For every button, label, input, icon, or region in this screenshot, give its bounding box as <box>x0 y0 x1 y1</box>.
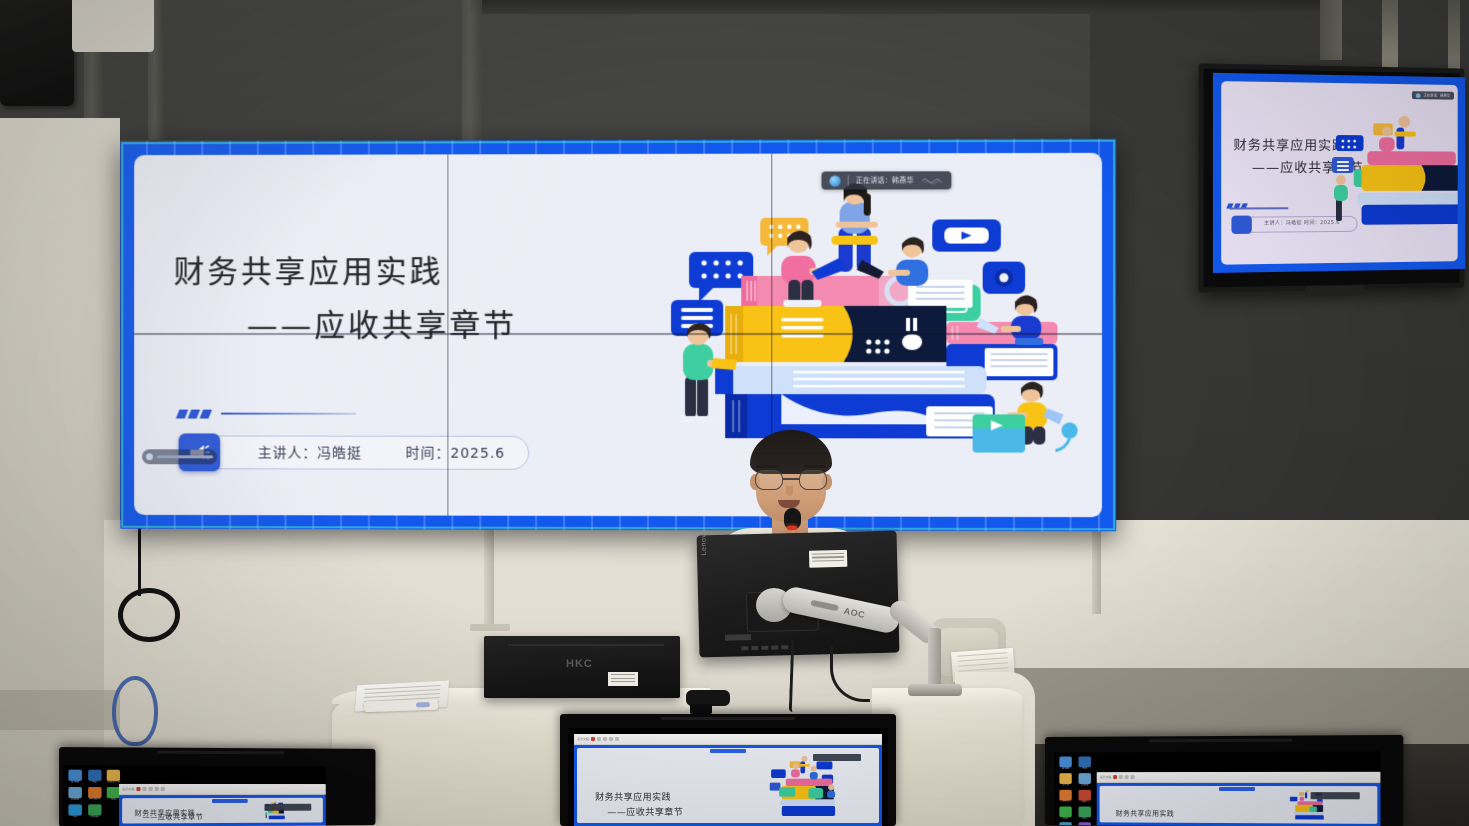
coiled-cable <box>118 588 180 642</box>
ie-browser-icon[interactable] <box>88 770 101 781</box>
wall-baseboard <box>0 690 120 730</box>
mirrored-slide: 财务共享应用实践 ——应收共享章节 <box>122 798 323 824</box>
desktop-icon-label: QQ <box>67 815 83 818</box>
play-icon[interactable] <box>1131 775 1135 779</box>
book-stack <box>715 276 1057 439</box>
monitor-screen[interactable]: 演示文稿 财务共享应用实践 ——应收共享章节 <box>568 728 888 826</box>
undo-icon[interactable] <box>143 787 147 791</box>
slide-title-line-1: 财务共享应用实践 <box>174 246 517 291</box>
print-icon[interactable] <box>155 787 159 791</box>
hanging-cable <box>138 524 141 596</box>
monitor-screen[interactable]: 财务共享实践 正在讲话：韩燕华 财务共享应用实践 ——应收共享章节 主讲人：冯皓… <box>1213 73 1465 273</box>
desktop-icon[interactable]: 文件夹 <box>1058 773 1072 787</box>
slide-meta-label: 主讲人：冯皓挺 时间：2025.6 <box>1264 219 1340 227</box>
desktop-icon[interactable]: 浏览器 <box>87 804 102 818</box>
monitor-screen[interactable]: 此电脑网络新建文件夹回收站WPS办公微信QQ浏览器 演示文稿 财务共享应用实践 … <box>63 766 326 826</box>
lenovo-brand-label: Lenovo <box>700 529 708 555</box>
desktop-icon-label: 文件夹 <box>1058 784 1072 787</box>
green-square-icon <box>1340 81 1345 82</box>
slide-meta-pill: 主讲人：冯皓挺 时间：2025.6 <box>195 435 529 469</box>
active-speaker-toolbar: 正在讲话：韩燕华 <box>1412 91 1454 99</box>
audio-wave-icon <box>921 176 943 185</box>
save-icon[interactable] <box>136 787 140 791</box>
ribbon-label: 演示文稿 <box>577 737 589 741</box>
computer-icon[interactable] <box>68 770 82 781</box>
desktop-icon-label: 浏览器 <box>87 815 102 818</box>
window-title-chip <box>710 749 746 753</box>
megaphone-icon <box>1231 216 1251 234</box>
redo-icon[interactable] <box>603 737 607 741</box>
display-mount-foot <box>470 624 510 631</box>
presenter-icon <box>1416 93 1421 98</box>
ceiling-rail <box>470 0 1320 14</box>
operator-monitor-right[interactable]: 此电脑网络文件夹回收站WPS笔记微信音乐图片工具OperaPDF 演示文稿 财务… <box>1045 735 1403 826</box>
undo-icon[interactable] <box>1119 775 1123 779</box>
person-sitting-laptop-yellow <box>973 382 1078 453</box>
ie-browser-icon[interactable] <box>1078 756 1090 767</box>
desktop-icon[interactable]: 笔记 <box>1078 790 1092 804</box>
active-speaker-toolbar[interactable]: 正在讲话：韩燕华 <box>822 171 951 189</box>
notes-icon[interactable] <box>1078 790 1090 801</box>
operator-monitor-left[interactable]: 此电脑网络新建文件夹回收站WPS办公微信QQ浏览器 演示文稿 财务共享应用实践 … <box>59 747 375 826</box>
desktop-icon-grid[interactable]: 此电脑网络文件夹回收站WPS笔记微信音乐图片工具OperaPDF <box>1058 756 1094 826</box>
play-icon[interactable] <box>615 737 619 741</box>
play-icon[interactable] <box>161 787 165 791</box>
hkc-monitor-rear[interactable]: HKC <box>484 636 680 698</box>
camera-tile-blue <box>983 262 1025 294</box>
window-title-label: 财务共享实践 <box>1347 81 1368 82</box>
qq-icon[interactable] <box>68 804 82 815</box>
desktop-icon-label: 回收站 <box>1078 784 1092 787</box>
recycle-bin-icon[interactable] <box>68 787 82 798</box>
window-title-chip <box>212 799 248 803</box>
conference-room-scene: 财务共享实践 正在讲话：韩燕华 财务共享应用实践 ——应收共享章节 <box>0 0 1469 826</box>
elearning-illustration <box>740 756 873 816</box>
vent-line <box>508 644 664 646</box>
powerpoint-window[interactable]: 演示文稿 财务共享应用实践 <box>1097 772 1381 826</box>
desktop-icon-label: 回收站 <box>67 798 83 801</box>
mirrored-slide: 财务共享应用实践 <box>1100 786 1378 824</box>
wps-icon[interactable] <box>88 787 101 798</box>
desktop-icon[interactable]: 网络 <box>87 770 102 784</box>
bezel-notch <box>157 751 284 755</box>
mirrored-slide: 财务共享应用实践 ——应收共享章节 <box>577 748 879 823</box>
monitor-arm-base <box>908 684 962 696</box>
music-icon[interactable] <box>1078 806 1090 817</box>
desktop-icon[interactable]: 微信 <box>1058 806 1072 820</box>
port-row <box>741 645 788 650</box>
ceiling-speaker <box>0 0 74 106</box>
active-speaker-toolbar <box>813 754 861 761</box>
podium-monitor-center[interactable]: 演示文稿 财务共享应用实践 ——应收共享章节 <box>560 714 896 826</box>
aoc-brand-label: AOC <box>843 606 866 620</box>
accent-line <box>221 413 356 415</box>
slide-title-line-2: ——应收共享章节 <box>174 300 517 345</box>
slideshow-mini-control[interactable] <box>142 449 217 464</box>
bezel-notch <box>1149 739 1292 743</box>
slide-canvas: 财务共享应用实践 ——应收共享章节 <box>119 795 326 826</box>
ribbon-toolbar[interactable]: 演示文稿 <box>1097 772 1381 783</box>
desktop-icon[interactable]: QQ <box>67 804 83 818</box>
active-speaker-label: 正在讲话：韩燕华 <box>1423 93 1450 98</box>
mirrored-slide: 财务共享实践 正在讲话：韩燕华 财务共享应用实践 ——应收共享章节 主讲人：冯皓… <box>1221 81 1458 265</box>
save-icon[interactable] <box>1113 775 1117 779</box>
browser-icon[interactable] <box>88 804 101 815</box>
desktop-icon[interactable]: 网络 <box>1078 756 1092 770</box>
computer-icon[interactable] <box>1059 756 1071 767</box>
desktop-icon-label: WPS <box>1058 800 1072 803</box>
monitor-arm-post <box>928 628 941 690</box>
desktop-icon-label: 此电脑 <box>1058 767 1072 770</box>
asset-sticker <box>809 550 847 568</box>
ribbon-toolbar[interactable]: 演示文稿 <box>574 734 882 745</box>
accent-line <box>1229 207 1288 209</box>
desktop-icon-label: 音乐 <box>1078 817 1092 820</box>
monitor-stand <box>1305 285 1364 296</box>
desktop-icon[interactable]: 新建文件夹 <box>106 770 121 784</box>
redo-icon[interactable] <box>149 787 153 791</box>
microphone-led-indicator <box>787 526 797 530</box>
display-mount-pole <box>1092 528 1101 614</box>
desktop-icon[interactable]: 回收站 <box>1078 773 1092 787</box>
wechat-icon[interactable] <box>1059 806 1071 817</box>
desktop-icon[interactable]: 此电脑 <box>1058 756 1072 770</box>
video-tile-blue <box>932 219 1001 251</box>
ribbon-label: 演示文稿 <box>1100 775 1112 779</box>
ribbon-label: 演示文稿 <box>122 787 134 791</box>
presentation-slide[interactable]: 财务共享实践 正在讲话：韩燕华 财务共享应用实践 ——应收共享章节 <box>134 153 1102 517</box>
desktop-icon-label: 笔记 <box>1078 800 1092 803</box>
bezel-notch <box>661 717 795 720</box>
redo-icon[interactable] <box>1125 775 1129 779</box>
slide-title-line-2: ——应收共享章节 <box>143 812 204 822</box>
desktop-icon[interactable]: 回收站 <box>67 787 83 801</box>
screen-recording-border: 财务共享实践 正在讲话：韩燕华 财务共享应用实践 ——应收共享章节 <box>120 139 1116 532</box>
slide-title-line-1: 财务共享应用实践 <box>1233 134 1345 154</box>
presenter-label: 主讲人：冯皓挺 <box>258 442 362 462</box>
recycle-bin-icon[interactable] <box>1078 773 1090 784</box>
print-icon[interactable] <box>609 737 613 741</box>
desktop-icon-label: 网络 <box>1078 767 1092 770</box>
wall-mounted-monitor[interactable]: 财务共享实践 正在讲话：韩燕华 财务共享应用实践 ——应收共享章节 主讲人：冯皓… <box>1198 63 1464 292</box>
desktop-icon-label: 此电脑 <box>67 781 83 784</box>
save-icon[interactable] <box>591 737 595 741</box>
wps-icon[interactable] <box>1059 790 1071 801</box>
divider <box>848 176 849 186</box>
powerpoint-window[interactable]: 演示文稿 财务共享应用实践 ——应收共享章节 <box>574 734 882 826</box>
wall-pillar <box>462 0 482 142</box>
ribbon-toolbar[interactable]: 演示文稿 <box>119 784 326 795</box>
arm-slot <box>810 600 839 612</box>
asset-sticker <box>608 672 638 686</box>
active-speaker-label: 正在讲话：韩燕华 <box>856 175 914 185</box>
desktop-icon[interactable]: 音乐 <box>1078 806 1092 820</box>
window-title-chip: 财务共享实践 <box>1340 81 1367 82</box>
presenter-eyebrow <box>804 465 826 468</box>
undo-icon[interactable] <box>597 737 601 741</box>
desktop-icon-label: 微信 <box>1058 817 1072 820</box>
powerpoint-window[interactable]: 演示文稿 财务共享应用实践 ——应收共享章节 <box>119 784 326 826</box>
progress-bar[interactable] <box>157 455 213 458</box>
slide-canvas: 财务共享应用实践 ——应收共享章节 <box>574 745 882 826</box>
play-dot-icon[interactable] <box>146 453 153 460</box>
presenter-icon <box>830 175 841 186</box>
presenter-nose <box>786 486 793 496</box>
folder-icon[interactable] <box>1059 773 1071 784</box>
desktop-icon-label: 网络 <box>87 781 102 784</box>
window-title-chip <box>1219 787 1255 791</box>
elearning-illustration <box>1332 113 1458 233</box>
monitor-screen[interactable]: 此电脑网络文件夹回收站WPS笔记微信音乐图片工具OperaPDF 演示文稿 财务… <box>1055 751 1381 826</box>
wall-pillar <box>1320 0 1342 60</box>
desktop-icon[interactable]: WPS办公 <box>87 787 102 801</box>
slide-canvas: 财务共享应用实践 <box>1097 783 1381 826</box>
wall-plate <box>72 0 154 52</box>
slide-title-line-2: ——应收共享章节 <box>607 805 683 818</box>
slide-title-line-1: 财务共享应用实践 <box>595 790 671 803</box>
presenter-eyebrow <box>756 465 778 468</box>
model-label <box>725 634 751 641</box>
desktop-icon-grid[interactable]: 此电脑网络新建文件夹回收站WPS办公微信QQ浏览器 <box>67 770 123 819</box>
active-speaker-toolbar <box>1311 792 1360 799</box>
led-video-wall[interactable]: 财务共享实践 正在讲话：韩燕华 财务共享应用实践 ——应收共享章节 <box>120 139 1116 532</box>
desktop-icon[interactable]: WPS <box>1058 790 1072 804</box>
active-speaker-toolbar <box>264 804 311 811</box>
desktop-icon-label: WPS办公 <box>87 798 102 801</box>
folder-icon[interactable] <box>107 770 120 781</box>
webcam-device <box>686 690 730 706</box>
blue-cable <box>112 676 158 746</box>
hkc-brand-label: HKC <box>566 658 593 670</box>
desktop-icon[interactable]: 此电脑 <box>67 770 83 784</box>
date-label: 时间：2025.6 <box>406 443 506 463</box>
slide-title-line-1: 财务共享应用实践 <box>1116 809 1174 819</box>
slide-title-block: 财务共享应用实践 ——应收共享章节 <box>174 246 517 345</box>
display-mount-pole <box>484 528 494 628</box>
